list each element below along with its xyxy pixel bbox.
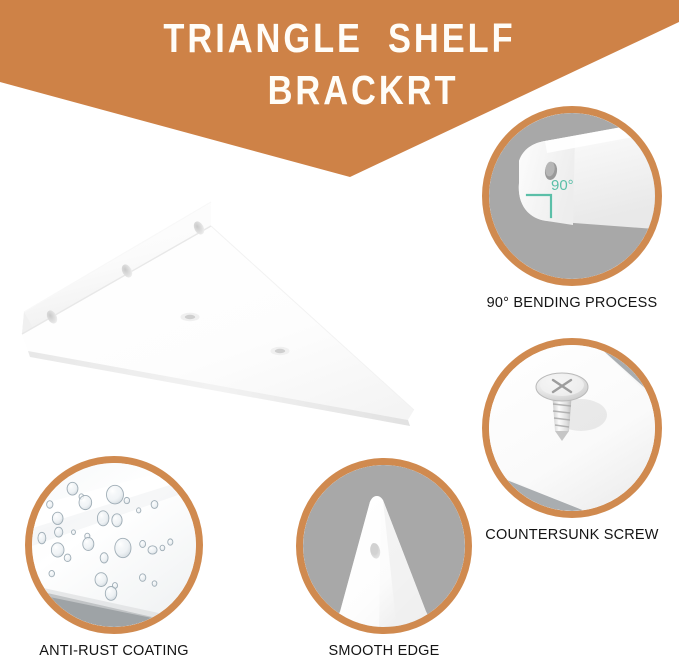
feature-circle-antirust [25, 456, 203, 634]
feature-countersunk-screw: COUNTERSUNK SCREW [470, 338, 674, 543]
feature-anti-rust-coating: ANTI-RUST COATING [16, 456, 212, 659]
feature-circle-smooth [296, 458, 472, 634]
feature-circle-screw [482, 338, 662, 518]
feature-circle-bending: 90° [482, 106, 662, 286]
triangle-shelf-bracket-icon [8, 186, 428, 426]
water-droplets-icon [32, 463, 196, 627]
countersunk-screw-icon [489, 345, 655, 511]
bent-bracket-edge-icon: 90° [489, 113, 655, 279]
bracket-tip-icon [303, 465, 465, 627]
svg-text:90°: 90° [551, 177, 574, 194]
feature-label-screw: COUNTERSUNK SCREW [470, 527, 674, 543]
feature-label-bending: 90° BENDING PROCESS [470, 295, 674, 311]
feature-label-antirust: ANTI-RUST COATING [16, 643, 212, 659]
feature-smooth-edge: SMOOTH EDGE [286, 458, 482, 659]
feature-label-smooth: SMOOTH EDGE [286, 643, 482, 659]
hero-product-image [8, 186, 428, 426]
feature-bending-process: 90° 90° BENDING PROCESS [470, 106, 674, 311]
